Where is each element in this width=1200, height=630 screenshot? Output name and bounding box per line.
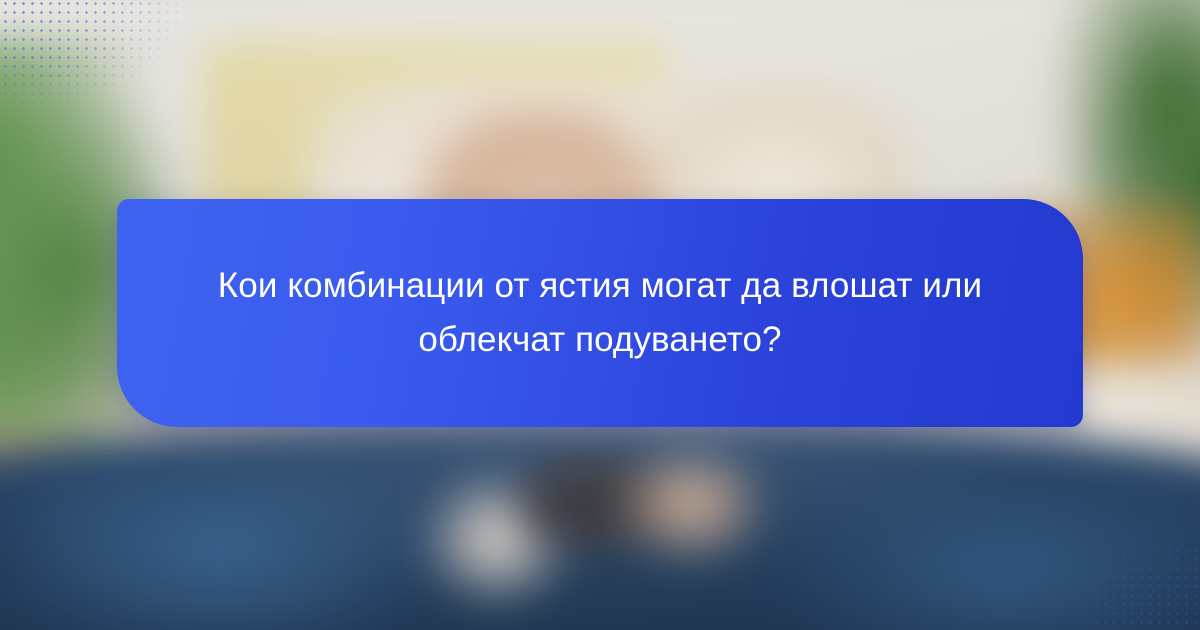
page-title: Кои комбинации от ястия могат да влошат … [200,259,1000,368]
title-banner: Кои комбинации от ястия могат да влошат … [117,199,1083,427]
halftone-dots-bottom-right-icon [1038,510,1200,630]
social-card: Кои комбинации от ястия могат да влошат … [0,0,1200,630]
halftone-dots-top-left-icon [0,0,182,110]
